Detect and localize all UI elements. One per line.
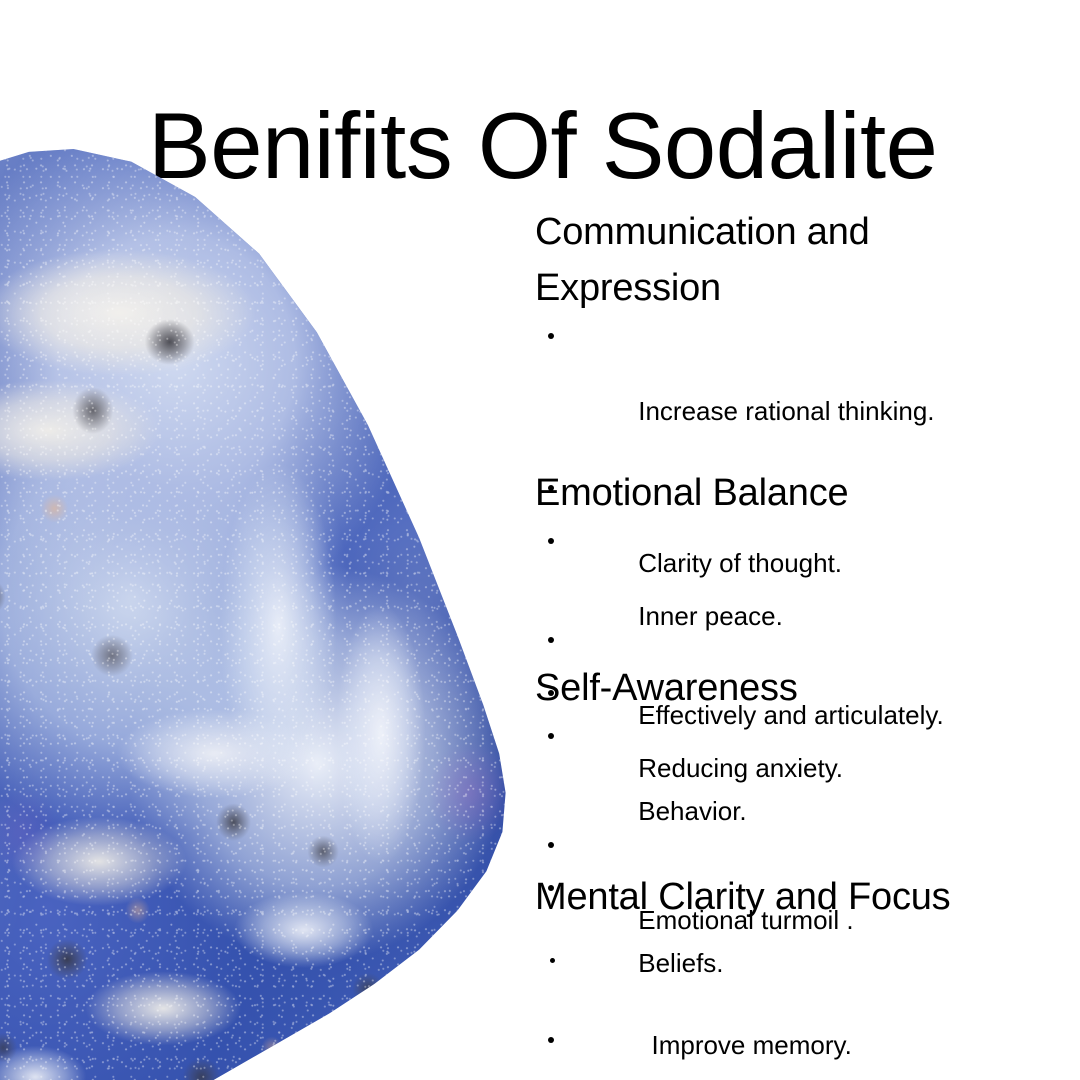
bullet-dot-icon xyxy=(550,958,555,963)
list-item-label: Behavior. xyxy=(638,796,746,826)
bullet-dot-icon xyxy=(548,333,554,339)
bullet-list: Improve memory. Increase productivity. C… xyxy=(535,938,1055,1080)
stone-gloss-highlight xyxy=(0,146,560,1080)
stone-silhouette xyxy=(0,146,560,1080)
list-item: Behavior. xyxy=(535,716,1055,868)
section-heading: Self-Awareness xyxy=(535,660,1055,716)
section-heading: Communication and Expression xyxy=(535,204,1055,316)
sodalite-benefits-poster: Benifits Of Sodalite Communication and E… xyxy=(0,0,1080,1080)
list-item-label: Increase rational thinking. xyxy=(638,396,934,426)
list-item: Improve memory. xyxy=(535,938,1055,1080)
list-item-label: Inner peace. xyxy=(638,601,783,631)
section-heading: Emotional Balance xyxy=(535,465,1055,521)
section-heading: Mental Clarity and Focus xyxy=(535,869,1055,925)
list-item: Inner peace. xyxy=(535,521,1055,673)
bullet-dot-icon xyxy=(548,733,554,739)
list-item: Increase rational thinking. xyxy=(535,316,1055,468)
list-item-label: Improve memory. xyxy=(644,1030,852,1060)
sodalite-stone-image xyxy=(0,146,560,1080)
section-mental-clarity-and-focus: Mental Clarity and Focus Improve memory.… xyxy=(535,869,1055,1080)
bullet-dot-icon xyxy=(548,538,554,544)
